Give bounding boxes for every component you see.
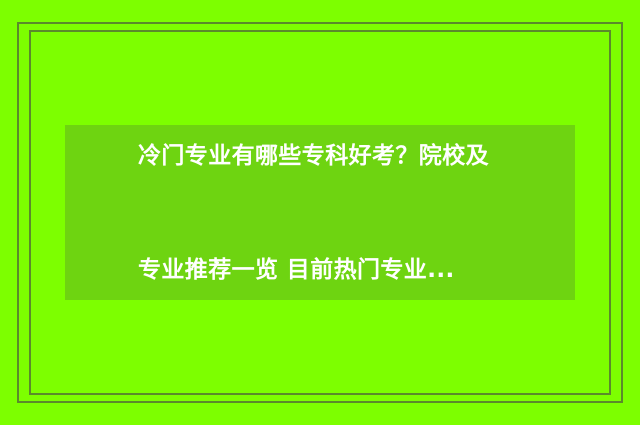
headline-panel: 冷门专业有哪些专科好考？院校及 专业推荐一览 目前热门专业...	[65, 125, 575, 300]
headline-line-2: 专业推荐一览 目前热门专业...	[138, 251, 489, 289]
headline-text-block: 冷门专业有哪些专科好考？院校及 专业推荐一览 目前热门专业...	[65, 61, 509, 365]
headline-line-1: 冷门专业有哪些专科好考？院校及	[138, 137, 489, 175]
thumbnail-card: 冷门专业有哪些专科好考？院校及 专业推荐一览 目前热门专业...	[0, 0, 640, 425]
